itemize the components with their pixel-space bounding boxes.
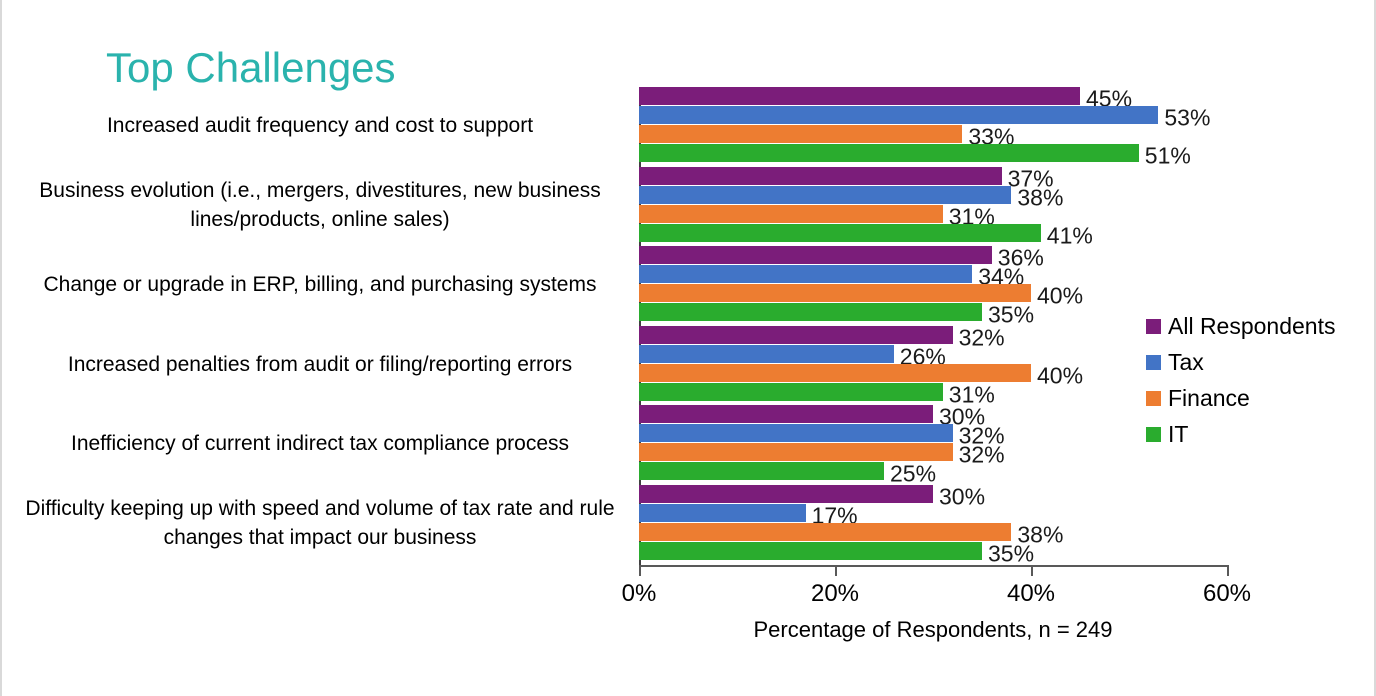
legend-swatch-icon xyxy=(1146,319,1161,334)
x-tick-label: 40% xyxy=(1007,580,1055,608)
bar-all-respondents[interactable] xyxy=(639,405,933,423)
bar-row: 38% xyxy=(639,186,1227,204)
bar-tax[interactable] xyxy=(639,186,1011,204)
bar-all-respondents[interactable] xyxy=(639,326,953,344)
x-tick-mark xyxy=(1227,565,1229,576)
bar-row: 32% xyxy=(639,424,1227,442)
bar-finance[interactable] xyxy=(639,523,1011,541)
bar-it[interactable] xyxy=(639,144,1139,162)
legend-swatch-icon xyxy=(1146,427,1161,442)
bar-group: 45%53%33%51% xyxy=(639,87,1227,162)
bar-it[interactable] xyxy=(639,383,943,401)
bar-all-respondents[interactable] xyxy=(639,246,992,264)
bar-finance[interactable] xyxy=(639,205,943,223)
bar-row: 35% xyxy=(639,303,1227,321)
chart-legend: All RespondentsTaxFinanceIT xyxy=(1146,308,1366,452)
bar-row: 53% xyxy=(639,106,1227,124)
bar-row: 30% xyxy=(639,485,1227,503)
bar-row: 17% xyxy=(639,504,1227,522)
bar-it[interactable] xyxy=(639,303,982,321)
bar-row: 33% xyxy=(639,125,1227,143)
legend-label: All Respondents xyxy=(1168,313,1336,340)
bar-all-respondents[interactable] xyxy=(639,485,933,503)
bar-row: 26% xyxy=(639,345,1227,363)
bar-row: 40% xyxy=(639,284,1227,302)
bar-tax[interactable] xyxy=(639,345,894,363)
category-label: Increased penalties from audit or filing… xyxy=(10,350,630,379)
x-tick-mark xyxy=(1031,565,1033,576)
category-label: Business evolution (i.e., mergers, dives… xyxy=(10,176,630,234)
bar-it[interactable] xyxy=(639,224,1041,242)
x-tick-label: 20% xyxy=(811,580,859,608)
bar-row: 31% xyxy=(639,383,1227,401)
bar-tax[interactable] xyxy=(639,265,972,283)
x-tick-mark xyxy=(639,565,641,576)
bar-row: 40% xyxy=(639,364,1227,382)
bar-tax[interactable] xyxy=(639,106,1158,124)
bar-row: 32% xyxy=(639,443,1227,461)
x-tick-label: 60% xyxy=(1203,580,1251,608)
bar-it[interactable] xyxy=(639,462,884,480)
bar-row: 30% xyxy=(639,405,1227,423)
bar-finance[interactable] xyxy=(639,284,1031,302)
bar-row: 34% xyxy=(639,265,1227,283)
x-tick-label: 0% xyxy=(622,580,657,608)
legend-item-it[interactable]: IT xyxy=(1146,416,1366,452)
legend-swatch-icon xyxy=(1146,391,1161,406)
bar-finance[interactable] xyxy=(639,443,953,461)
bar-finance[interactable] xyxy=(639,125,962,143)
bar-value-label: 35% xyxy=(988,540,1034,567)
plot-area: 45%53%33%51%37%38%31%41%36%34%40%35%32%2… xyxy=(639,88,1227,565)
page-title: Top Challenges xyxy=(106,42,396,94)
legend-label: Tax xyxy=(1168,349,1204,376)
bar-row: 25% xyxy=(639,462,1227,480)
bar-it[interactable] xyxy=(639,542,982,560)
bar-row: 45% xyxy=(639,87,1227,105)
legend-item-all-respondents[interactable]: All Respondents xyxy=(1146,308,1366,344)
bar-row: 36% xyxy=(639,246,1227,264)
bar-group: 32%26%40%31% xyxy=(639,326,1227,401)
bar-group: 36%34%40%35% xyxy=(639,246,1227,321)
legend-label: IT xyxy=(1168,421,1188,448)
legend-item-tax[interactable]: Tax xyxy=(1146,344,1366,380)
chart-slide: Top Challenges Increased audit frequency… xyxy=(0,0,1376,696)
category-label: Inefficiency of current indirect tax com… xyxy=(10,429,630,458)
x-axis-title: Percentage of Respondents, n = 249 xyxy=(639,617,1227,643)
legend-label: Finance xyxy=(1168,385,1250,412)
category-label: Change or upgrade in ERP, billing, and p… xyxy=(10,270,630,299)
category-label: Difficulty keeping up with speed and vol… xyxy=(10,494,630,552)
bar-row: 51% xyxy=(639,144,1227,162)
bar-row: 37% xyxy=(639,167,1227,185)
bar-tax[interactable] xyxy=(639,424,953,442)
bar-group: 37%38%31%41% xyxy=(639,167,1227,242)
bar-row: 32% xyxy=(639,326,1227,344)
bar-row: 31% xyxy=(639,205,1227,223)
bar-group: 30%32%32%25% xyxy=(639,405,1227,480)
bar-all-respondents[interactable] xyxy=(639,167,1002,185)
bar-row: 38% xyxy=(639,523,1227,541)
bar-row: 35% xyxy=(639,542,1227,560)
bar-tax[interactable] xyxy=(639,504,806,522)
bar-all-respondents[interactable] xyxy=(639,87,1080,105)
legend-item-finance[interactable]: Finance xyxy=(1146,380,1366,416)
bar-group: 30%17%38%35% xyxy=(639,485,1227,560)
category-axis-labels: Increased audit frequency and cost to su… xyxy=(10,88,630,565)
legend-swatch-icon xyxy=(1146,355,1161,370)
bar-row: 41% xyxy=(639,224,1227,242)
x-tick-mark xyxy=(835,565,837,576)
x-axis-line xyxy=(639,565,1228,567)
bar-finance[interactable] xyxy=(639,364,1031,382)
category-label: Increased audit frequency and cost to su… xyxy=(10,111,630,140)
